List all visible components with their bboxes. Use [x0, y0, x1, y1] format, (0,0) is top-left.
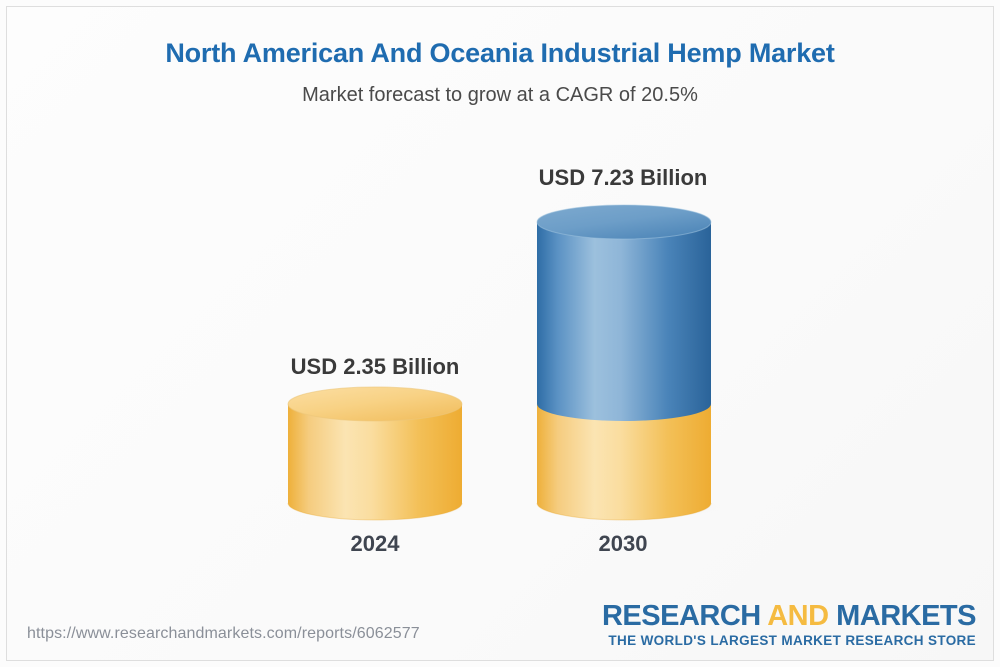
logo[interactable]: RESEARCH AND MARKETS THE WORLD'S LARGEST…	[602, 601, 976, 649]
chart-card: North American And Oceania Industrial He…	[0, 0, 1000, 667]
bar-cylinder-2030[interactable]	[531, 199, 723, 521]
chart-plot-area: USD 2.35 Billion USD 7.23 Billion 2024 2…	[0, 0, 1000, 667]
logo-and: AND	[767, 600, 828, 632]
logo-markets: MARKETS	[829, 600, 976, 632]
logo-research: RESEARCH	[602, 600, 767, 632]
bar-cylinder-2024[interactable]	[282, 386, 468, 521]
category-label-2030: 2030	[523, 531, 723, 557]
data-label-2030: USD 7.23 Billion	[523, 165, 723, 191]
logo-tagline: THE WORLD'S LARGEST MARKET RESEARCH STOR…	[602, 633, 976, 649]
source-url[interactable]: https://www.researchandmarkets.com/repor…	[27, 625, 420, 643]
category-label-2024: 2024	[275, 531, 475, 557]
data-label-2024: USD 2.35 Billion	[275, 354, 475, 380]
logo-wordmark: RESEARCH AND MARKETS	[602, 601, 976, 632]
